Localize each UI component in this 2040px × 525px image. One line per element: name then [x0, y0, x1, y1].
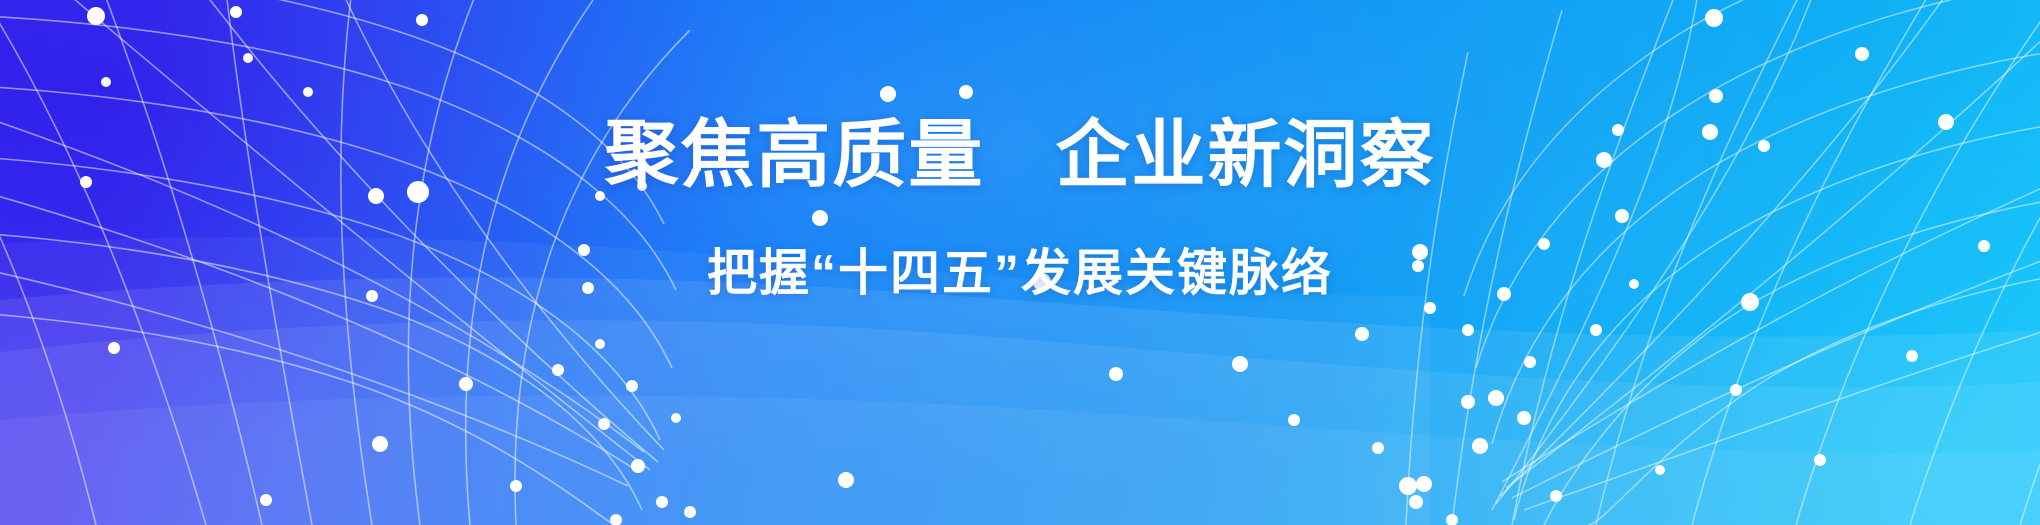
hero-banner: 聚焦高质量 企业新洞察 把握“十四五”发展关键脉络 [0, 0, 2040, 525]
right-globe-wireframe-icon [0, 0, 2040, 525]
